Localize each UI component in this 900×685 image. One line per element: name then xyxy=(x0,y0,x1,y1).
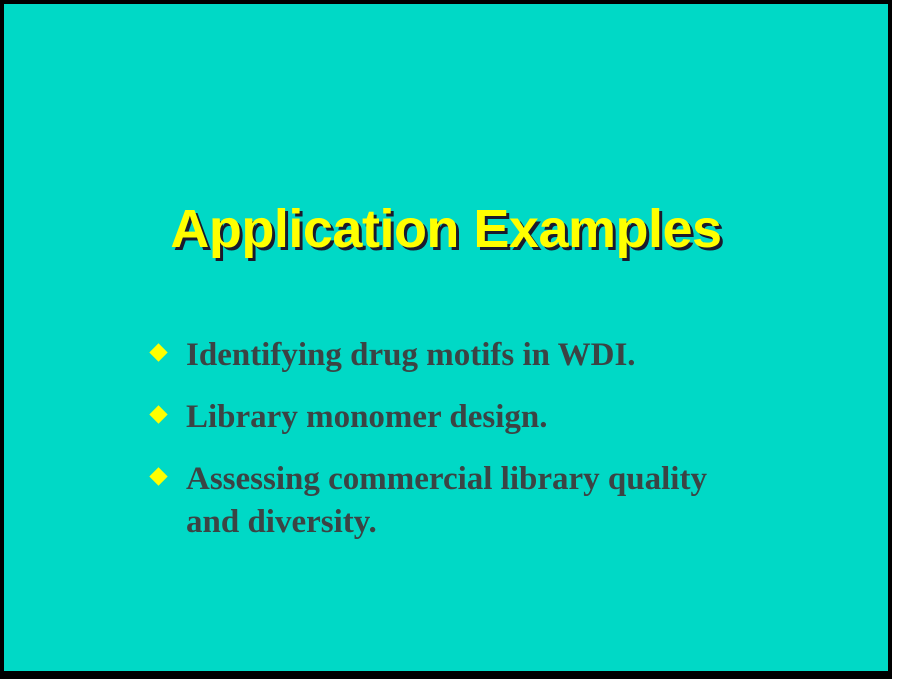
slide-content-area: Application Examples Identifying drug mo… xyxy=(4,4,888,671)
presentation-slide: Application Examples Identifying drug mo… xyxy=(0,0,892,679)
diamond-bullet-icon xyxy=(149,343,167,361)
list-item: Assessing commercial library quality and… xyxy=(150,458,810,542)
list-item: Library monomer design. xyxy=(150,396,810,438)
list-item: Identifying drug motifs in WDI. xyxy=(150,334,810,376)
diamond-bullet-icon xyxy=(149,406,167,424)
page-title: Application Examples xyxy=(4,202,888,256)
bullet-list: Identifying drug motifs in WDI. Library … xyxy=(150,334,810,543)
diamond-bullet-icon xyxy=(149,468,167,486)
list-item-label: Assessing commercial library quality and… xyxy=(186,458,716,542)
list-item-label: Library monomer design. xyxy=(186,396,716,438)
list-item-label: Identifying drug motifs in WDI. xyxy=(186,334,716,376)
